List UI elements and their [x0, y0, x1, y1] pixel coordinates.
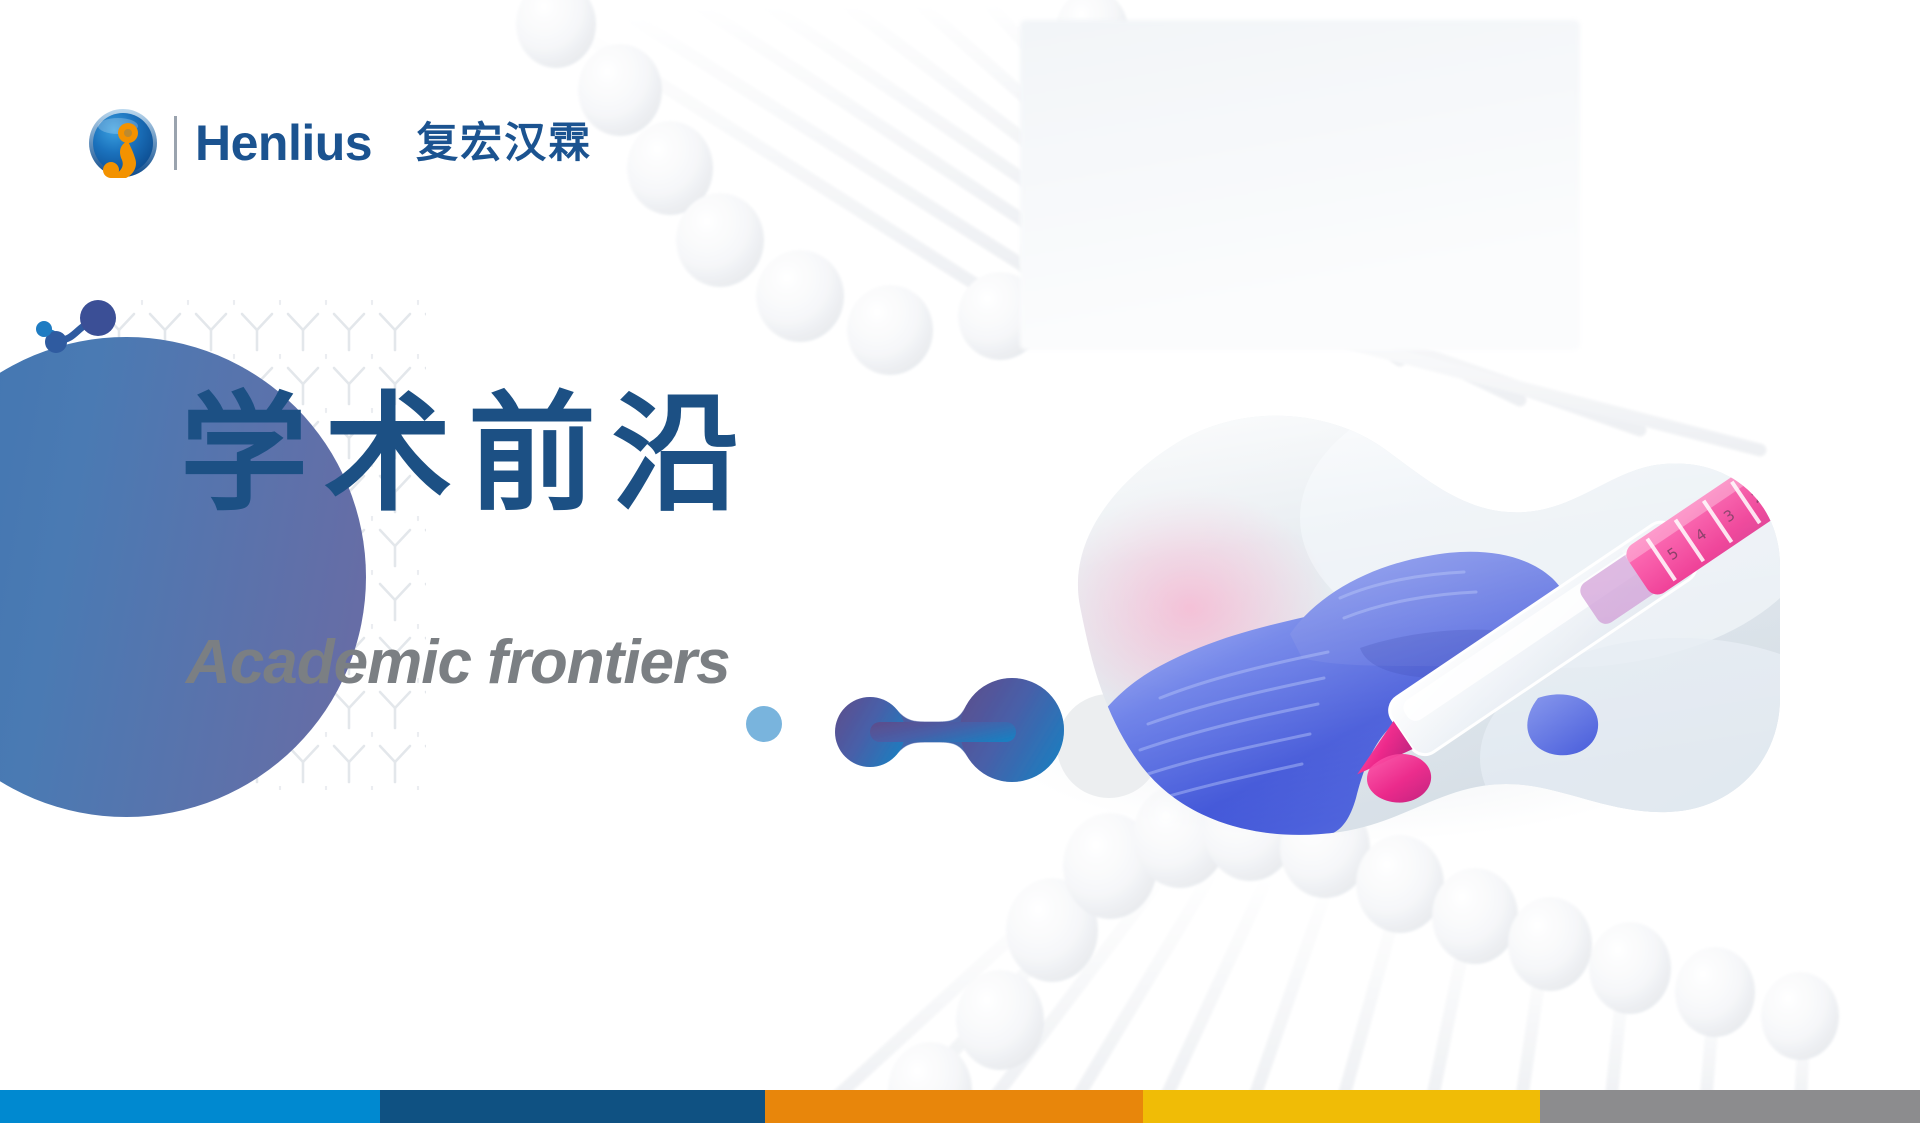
henlius-molecule-logo-icon [88, 108, 158, 178]
svg-text:1: 1 [1777, 468, 1780, 488]
lab-gloved-hand-pipette-photo: 5 4 3 2 1 [1040, 398, 1780, 838]
molecule-dumbbell-icon [812, 672, 1082, 792]
page-subtitle-en: Academic frontiers [186, 632, 730, 694]
logo-divider [174, 116, 177, 170]
footer-color-bar [0, 1090, 1920, 1123]
logo-chinese-name: 复宏汉霖 [416, 122, 592, 164]
slide-canvas: 5 4 3 2 1 [0, 0, 1920, 1123]
footer-segment-dark-blue [380, 1090, 765, 1123]
logo-wordmark: Henlius [195, 118, 372, 168]
molecule-icon-small [30, 296, 140, 366]
page-title-cn: 学术前沿 [180, 383, 756, 526]
footer-segment-yellow [1143, 1090, 1540, 1123]
brand-logo[interactable]: Henlius 复宏汉霖 [88, 108, 592, 178]
footer-segment-orange [765, 1090, 1143, 1123]
footer-segment-light-blue [0, 1090, 380, 1123]
background-wash-top [1020, 20, 1580, 350]
accent-dot-blue [746, 706, 782, 742]
footer-segment-grey [1540, 1090, 1920, 1123]
